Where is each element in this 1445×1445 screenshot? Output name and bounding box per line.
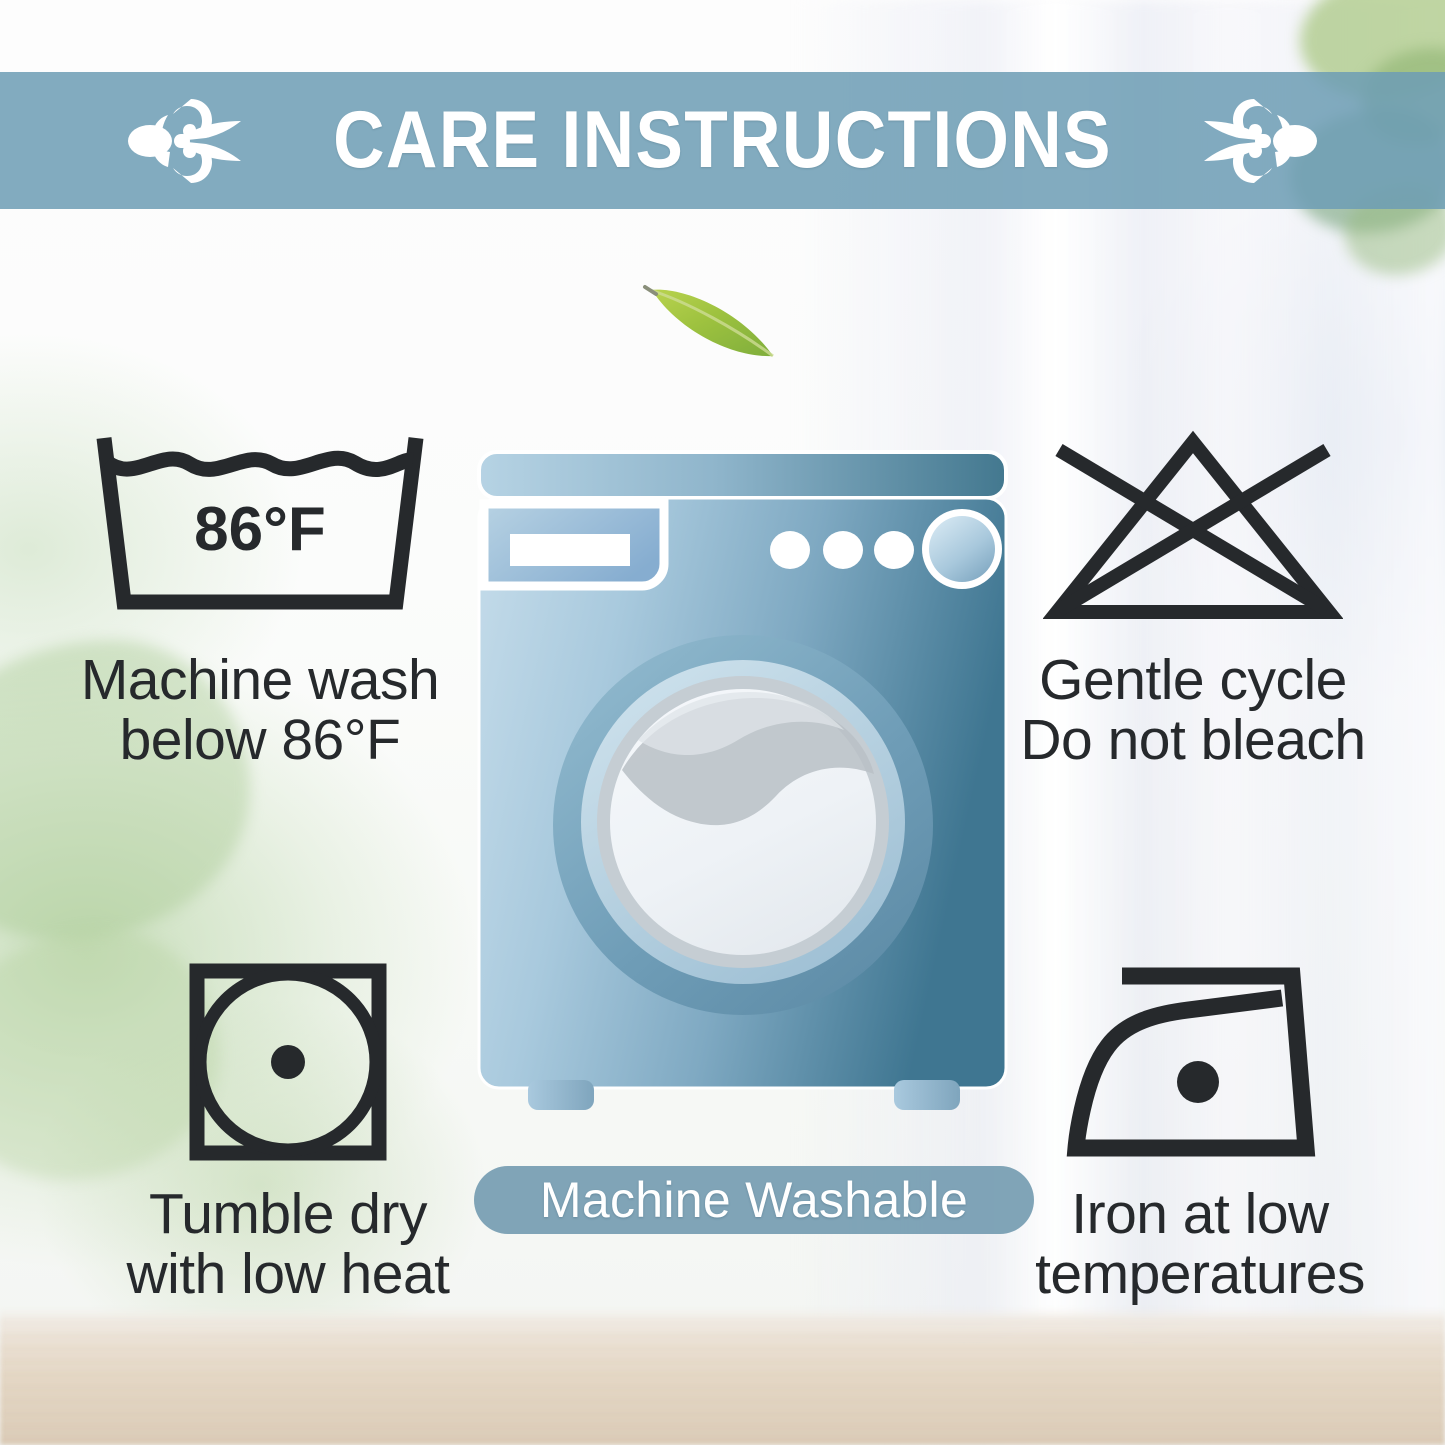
machine-foot-right xyxy=(894,1080,960,1110)
symbol-cell-machine-wash: 86°F Machine wash below 86°F xyxy=(30,428,490,771)
triangle-crossed-out-icon xyxy=(1043,428,1343,628)
control-dial-knob[interactable] xyxy=(929,516,995,582)
fleur-de-lis-icon xyxy=(1199,91,1317,191)
symbol-caption-tumble-dry: Tumble dry with low heat xyxy=(126,1184,449,1305)
fleur-de-lis-icon xyxy=(128,91,246,191)
care-instructions-poster: CARE INSTRUCTIONS xyxy=(0,0,1445,1445)
symbol-caption-do-not-bleach: Gentle cycle Do not bleach xyxy=(1020,650,1365,771)
symbol-cell-iron: Iron at low temperatures xyxy=(965,962,1435,1305)
machine-washable-badge-label: Machine Washable xyxy=(540,1175,968,1225)
page-title: CARE INSTRUCTIONS xyxy=(333,100,1112,181)
indicator-light xyxy=(770,531,810,569)
symbol-caption-machine-wash: Machine wash below 86°F xyxy=(81,650,439,771)
symbol-cell-tumble-dry: Tumble dry with low heat xyxy=(58,962,518,1305)
drawer-handle-slot xyxy=(510,534,630,566)
indicator-light xyxy=(874,531,914,569)
machine-washable-badge: Machine Washable xyxy=(474,1166,1034,1234)
machine-foot-left xyxy=(528,1080,594,1110)
wash-temperature-label: 86°F xyxy=(194,495,326,564)
tumble-dry-low-heat-icon xyxy=(188,962,388,1162)
wooden-table-grain xyxy=(0,1312,1445,1445)
symbol-caption-iron: Iron at low temperatures xyxy=(1035,1184,1365,1305)
indicator-light xyxy=(823,531,863,569)
iron-low-temperature-icon xyxy=(1060,962,1340,1162)
machine-top-panel xyxy=(479,452,1006,498)
wash-tub-icon: 86°F xyxy=(90,428,430,628)
symbol-cell-do-not-bleach: Gentle cycle Do not bleach xyxy=(958,428,1428,771)
green-leaf-icon xyxy=(640,272,790,372)
washing-machine-illustration xyxy=(470,440,1015,1140)
header-banner: CARE INSTRUCTIONS xyxy=(0,72,1445,209)
